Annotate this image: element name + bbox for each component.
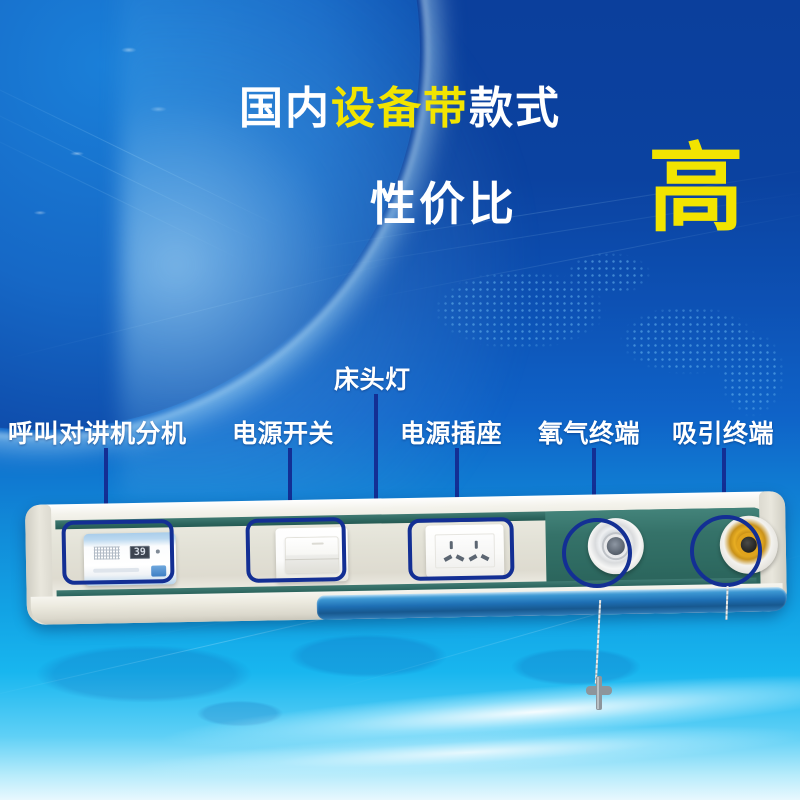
- callout-label-switch: 电源开关: [232, 414, 334, 450]
- poster-canvas: 国内设备带款式 性价比 高 呼叫对讲机分机 电源开关 床头灯 电源插座 氧气终端…: [0, 0, 800, 800]
- headline-line-1: 国内设备带款式: [0, 86, 800, 132]
- subheadline-text: 性价比: [370, 168, 517, 234]
- highlight-box-intercom: [61, 519, 174, 585]
- callout-label-outlet: 电源插座: [400, 414, 502, 450]
- callout-label-oxygen: 氧气终端: [538, 414, 640, 450]
- highlight-box-switch: [245, 517, 346, 583]
- callout-label-bedlamp: 床头灯: [334, 360, 411, 396]
- headline-seg-2: 设备带: [331, 84, 469, 133]
- headline-block: 国内设备带款式: [0, 86, 800, 132]
- highlight-circle-suction: [690, 515, 762, 587]
- pull-cord-cross-connector[interactable]: [586, 676, 612, 715]
- callout-label-intercom: 呼叫对讲机分机: [8, 414, 187, 450]
- emphasis-character: 高: [648, 142, 744, 238]
- highlight-circle-oxygen: [562, 518, 632, 588]
- callout-label-suction: 吸引终端: [672, 414, 774, 450]
- headline-seg-1: 国内: [239, 84, 331, 133]
- highlight-box-outlet: [407, 517, 514, 581]
- cross-connector-icon: [586, 676, 612, 710]
- headline-seg-3: 款式: [469, 84, 561, 133]
